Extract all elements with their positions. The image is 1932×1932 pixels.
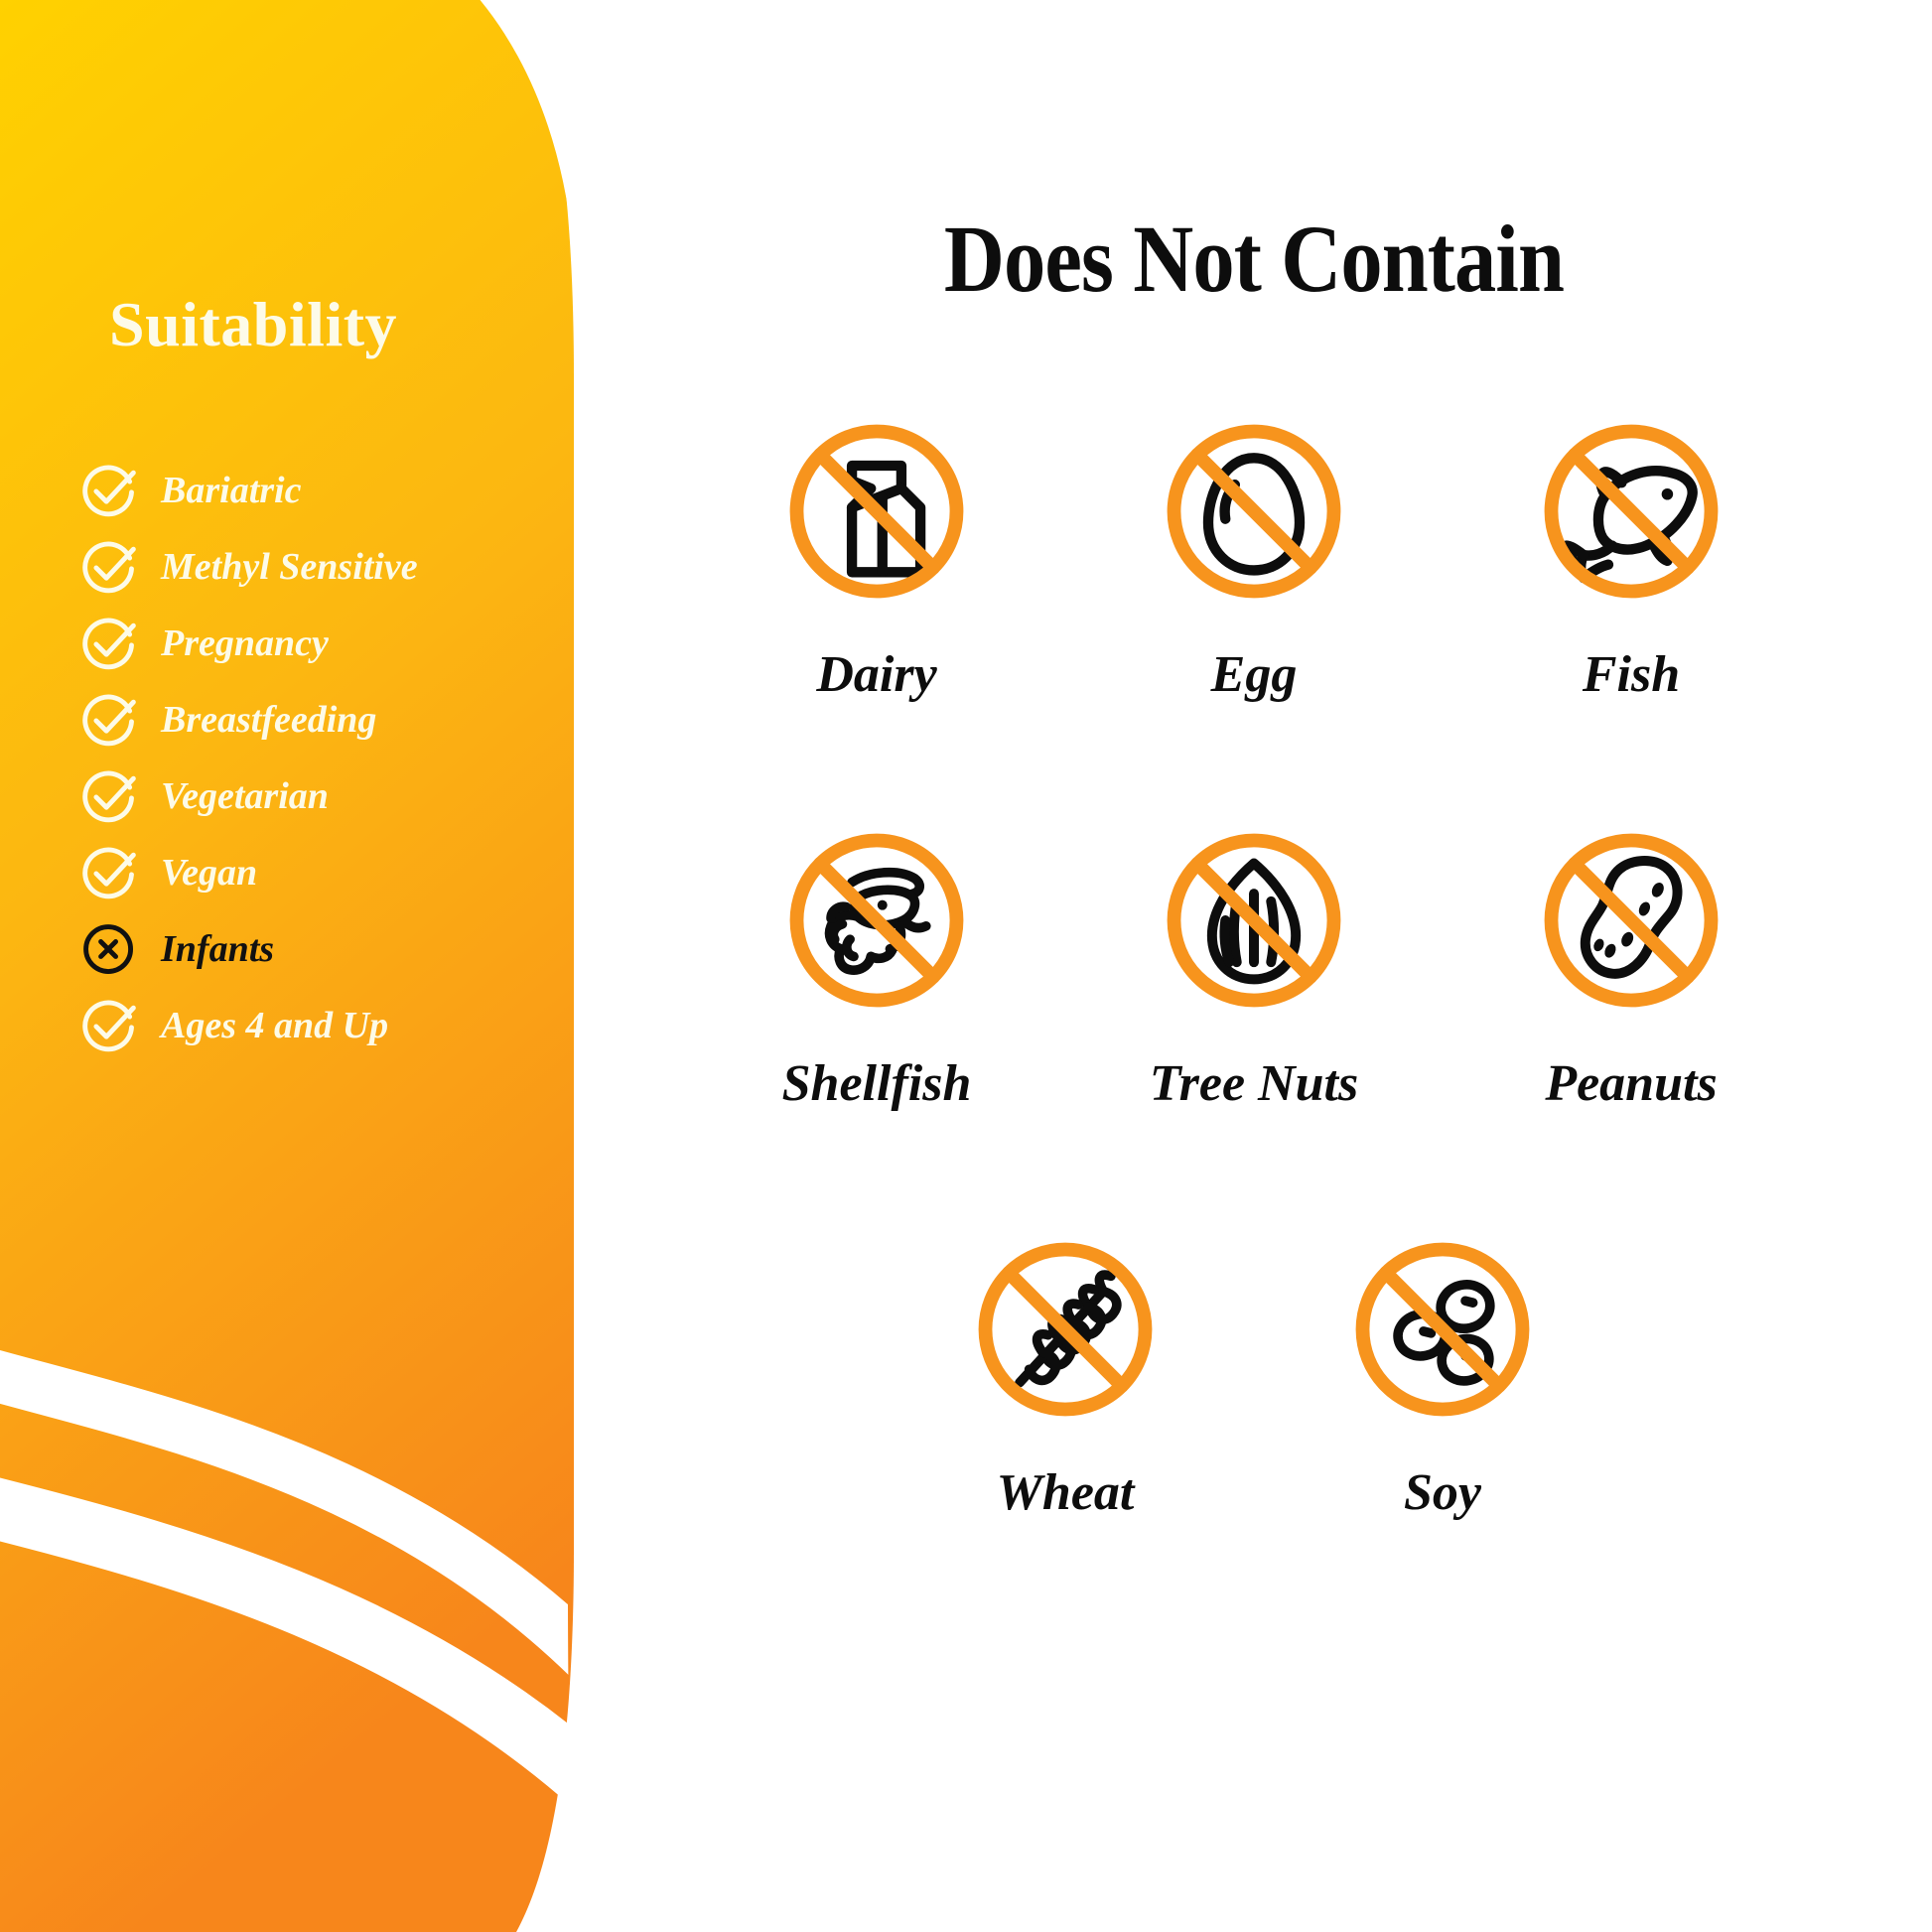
suitability-item-label: Ages 4 and Up [161, 1007, 388, 1044]
section-title: Does Not Contain [657, 204, 1851, 314]
no-almond-icon [1140, 806, 1368, 1035]
allergen-label: Soy [1404, 1467, 1481, 1519]
suitability-item-label: Bariatric [161, 472, 301, 509]
suitability-item-label: Pregnancy [161, 624, 329, 662]
suitability-item-label: Methyl Sensitive [161, 548, 418, 586]
check-circle-icon [79, 996, 139, 1055]
check-circle-icon [79, 461, 139, 520]
allergen-label: Fish [1583, 649, 1680, 701]
check-circle-icon [79, 843, 139, 902]
x-circle-icon [79, 919, 139, 979]
allergen-cell-soy: Soy [1254, 1215, 1631, 1519]
suitability-item-breastfeeding: Breastfeeding [79, 681, 546, 758]
suitability-item-ages-4-and-up: Ages 4 and Up [79, 987, 546, 1063]
allergen-cell-shellfish: Shellfish [688, 806, 1065, 1110]
check-circle-icon [79, 690, 139, 750]
suitability-item-label: Infants [161, 930, 274, 968]
allergen-cell-dairy: Dairy [688, 397, 1065, 701]
allergen-row: Shellfish [576, 806, 1932, 1110]
suitability-item-methyl-sensitive: Methyl Sensitive [79, 528, 546, 605]
suitability-item-pregnancy: Pregnancy [79, 605, 546, 681]
allergen-label: Egg [1211, 649, 1298, 701]
no-milk-carton-icon [762, 397, 991, 625]
suitability-list: Bariatric Methyl Sensitive Pregnancy [79, 452, 546, 1063]
allergen-label: Peanuts [1545, 1058, 1717, 1110]
check-circle-icon [79, 766, 139, 826]
no-wheat-icon [951, 1215, 1179, 1444]
allergen-grid: Dairy [576, 397, 1932, 1624]
allergen-label: Wheat [997, 1467, 1135, 1519]
suitability-item-infants: Infants [79, 910, 546, 987]
no-fish-icon [1517, 397, 1745, 625]
allergen-label: Dairy [816, 649, 936, 701]
allergen-cell-wheat: Wheat [877, 1215, 1254, 1519]
allergen-cell-tree-nuts: Tree Nuts [1065, 806, 1443, 1110]
no-soybean-icon [1328, 1215, 1557, 1444]
page-title: Suitability [109, 288, 397, 361]
does-not-contain-section: Does Not Contain [576, 0, 1932, 1932]
allergen-row: Dairy [576, 397, 1932, 701]
suitability-panel: Suitability Bariatric Methyl Sensitive [0, 0, 576, 1932]
allergen-cell-egg: Egg [1065, 397, 1443, 701]
suitability-item-label: Vegetarian [161, 777, 329, 815]
check-circle-icon [79, 537, 139, 597]
no-egg-icon [1140, 397, 1368, 625]
allergen-cell-fish: Fish [1443, 397, 1820, 701]
allergen-row: Wheat [576, 1215, 1932, 1519]
suitability-item-vegan: Vegan [79, 834, 546, 910]
allergen-label: Shellfish [782, 1058, 972, 1110]
allergen-label: Tree Nuts [1150, 1058, 1358, 1110]
no-peanut-icon [1517, 806, 1745, 1035]
suitability-item-vegetarian: Vegetarian [79, 758, 546, 834]
allergen-cell-peanuts: Peanuts [1443, 806, 1820, 1110]
suitability-item-bariatric: Bariatric [79, 452, 546, 528]
infographic-root: Suitability Bariatric Methyl Sensitive [0, 0, 1932, 1932]
suitability-item-label: Vegan [161, 854, 257, 892]
no-shrimp-icon [762, 806, 991, 1035]
suitability-item-label: Breastfeeding [161, 701, 376, 739]
check-circle-icon [79, 614, 139, 673]
